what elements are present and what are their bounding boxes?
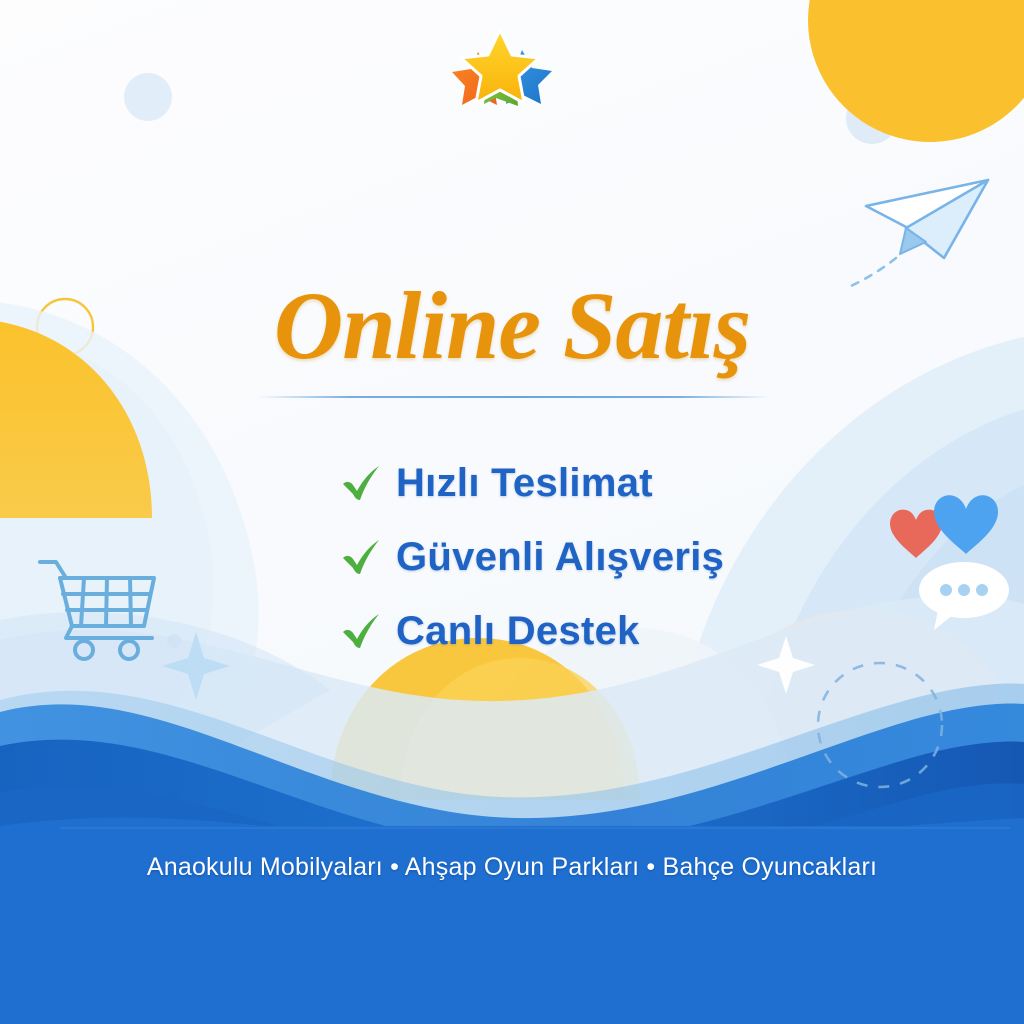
hearts-and-bubble-group	[856, 490, 1024, 630]
feature-label: Hızlı Teslimat	[396, 461, 653, 506]
blue-heart-icon	[934, 495, 998, 554]
multicolor-star-logo	[444, 24, 564, 112]
cart-handle	[40, 562, 66, 578]
yellow-circle-top-right	[808, 0, 1024, 142]
title-divider	[258, 396, 770, 398]
green-check-icon	[338, 460, 384, 506]
red-heart-icon	[890, 510, 942, 558]
cart-grid-v1	[81, 578, 84, 626]
footer-categories-text: Anaokulu Mobilyaları • Ahşap Oyun Parkla…	[0, 853, 1024, 882]
feature-item-secure-shopping: Güvenli Alışveriş	[338, 520, 818, 594]
green-check-icon	[338, 608, 384, 654]
title-block: Online Satış	[0, 276, 1024, 377]
cart-grid-v2	[106, 578, 107, 626]
feature-item-live-support: Canlı Destek	[338, 594, 818, 668]
cart-grid-v3	[130, 578, 131, 626]
bubble-dot-3	[976, 584, 988, 596]
bubble-dot-1	[940, 584, 952, 596]
bubble-dot-2	[958, 584, 970, 596]
speech-bubble-icon	[919, 562, 1009, 630]
feature-label: Canlı Destek	[396, 609, 640, 654]
sparkle-dot-left	[167, 634, 181, 648]
shopping-cart-icon	[36, 552, 168, 662]
promo-poster: Online Satış Hızlı Teslimat Güvenli Alış…	[0, 0, 1024, 1024]
feature-label: Güvenli Alışveriş	[396, 535, 724, 580]
feature-item-fast-delivery: Hızlı Teslimat	[338, 446, 818, 520]
soft-circle-top-left	[124, 73, 172, 121]
cart-wheel-right	[120, 641, 138, 659]
green-check-icon	[338, 534, 384, 580]
cart-wheel-left	[75, 641, 93, 659]
page-title: Online Satış	[0, 276, 1024, 377]
feature-list: Hızlı Teslimat Güvenli Alışveriş Canlı D…	[338, 446, 818, 668]
